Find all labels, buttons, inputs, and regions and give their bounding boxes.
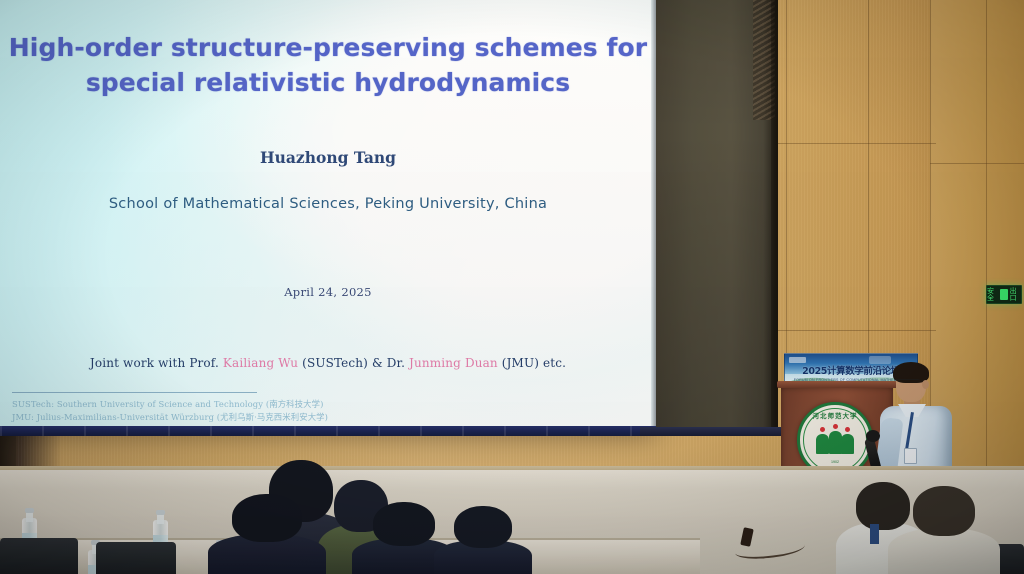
audience-head bbox=[373, 502, 435, 546]
emblem-chinese-name: 河北师范大学 bbox=[800, 410, 870, 420]
running-person-icon bbox=[1000, 289, 1007, 300]
wall-seam-vertical-4 bbox=[986, 0, 987, 470]
microphone-capsule-icon bbox=[866, 430, 880, 442]
slide-title-line2: special relativistic hydrodynamics bbox=[0, 65, 656, 100]
emblem-head-2 bbox=[833, 424, 838, 429]
title-slide: High-order structure-preserving schemes … bbox=[0, 0, 656, 436]
presenter-ear bbox=[922, 380, 929, 389]
wall-seam-horizontal-1 bbox=[776, 143, 936, 144]
emblem-figure-1 bbox=[816, 434, 829, 454]
slide-footnote-jmu: JMU: Julius-Maximilians-Universität Würz… bbox=[12, 411, 328, 423]
slide-joint-work-line: Joint work with Prof. Kailiang Wu (SUSTe… bbox=[0, 356, 656, 370]
emblem-figure-3 bbox=[841, 434, 854, 454]
footnote-divider-rule bbox=[12, 392, 257, 393]
joint-prefix: Joint work with Prof. bbox=[90, 356, 223, 370]
presenter-glasses-icon bbox=[894, 379, 920, 386]
emblem-founding-year: 1902 bbox=[800, 460, 870, 464]
emblem-figure-2 bbox=[829, 431, 842, 454]
joint-collaborator-1: Kailiang Wu bbox=[223, 356, 298, 370]
audience-member bbox=[434, 516, 532, 574]
audience-lanyard bbox=[870, 524, 879, 544]
wall-seam-horizontal-2 bbox=[930, 163, 1024, 164]
slide-affiliation: School of Mathematical Sciences, Peking … bbox=[0, 196, 656, 212]
screen-foot-trim bbox=[640, 427, 790, 436]
slide-date: April 24, 2025 bbox=[0, 285, 656, 299]
joint-collaborator-2: Junming Duan bbox=[409, 356, 498, 370]
audience-member bbox=[208, 506, 326, 574]
emblem-head-1 bbox=[820, 427, 825, 432]
exit-sign-label-right: 出口 bbox=[1010, 288, 1021, 302]
joint-suffix: (JMU) etc. bbox=[498, 356, 566, 370]
chair-back bbox=[0, 538, 78, 574]
slide-author: Huazhong Tang bbox=[0, 148, 656, 167]
slide-footnote-sustech: SUSTech: Southern University of Science … bbox=[12, 398, 323, 410]
bottle-neck bbox=[26, 512, 33, 522]
presenter-badge bbox=[904, 448, 917, 464]
slide-title-line1: High-order structure-preserving schemes … bbox=[9, 33, 647, 62]
bottle-cap bbox=[25, 508, 34, 513]
projection-screen: High-order structure-preserving schemes … bbox=[0, 0, 656, 436]
slide-title: High-order structure-preserving schemes … bbox=[0, 30, 656, 100]
audience-head bbox=[232, 494, 302, 542]
exit-sign-label-left: 安全 bbox=[987, 288, 998, 302]
emergency-exit-sign: 安全 出口 bbox=[986, 285, 1022, 304]
stage-curtain-panel bbox=[656, 0, 778, 436]
curtain-right-edge bbox=[771, 0, 778, 436]
audience-head bbox=[913, 486, 975, 536]
bottle-cap bbox=[156, 510, 165, 515]
audience-head bbox=[454, 506, 512, 548]
joint-middle: (SUSTech) & Dr. bbox=[298, 356, 409, 370]
bottle-neck bbox=[157, 514, 164, 524]
screen-bottom-frame-texture bbox=[0, 426, 656, 436]
emblem-head-3 bbox=[845, 427, 850, 432]
chair-back bbox=[96, 542, 176, 574]
audience-member bbox=[888, 496, 1000, 574]
wall-seam-horizontal-3 bbox=[776, 330, 936, 331]
conference-photo-scene: High-order structure-preserving schemes … bbox=[0, 0, 1024, 574]
emblem-figures-glyph bbox=[815, 428, 855, 454]
banner-logo-left-icon bbox=[789, 357, 806, 363]
